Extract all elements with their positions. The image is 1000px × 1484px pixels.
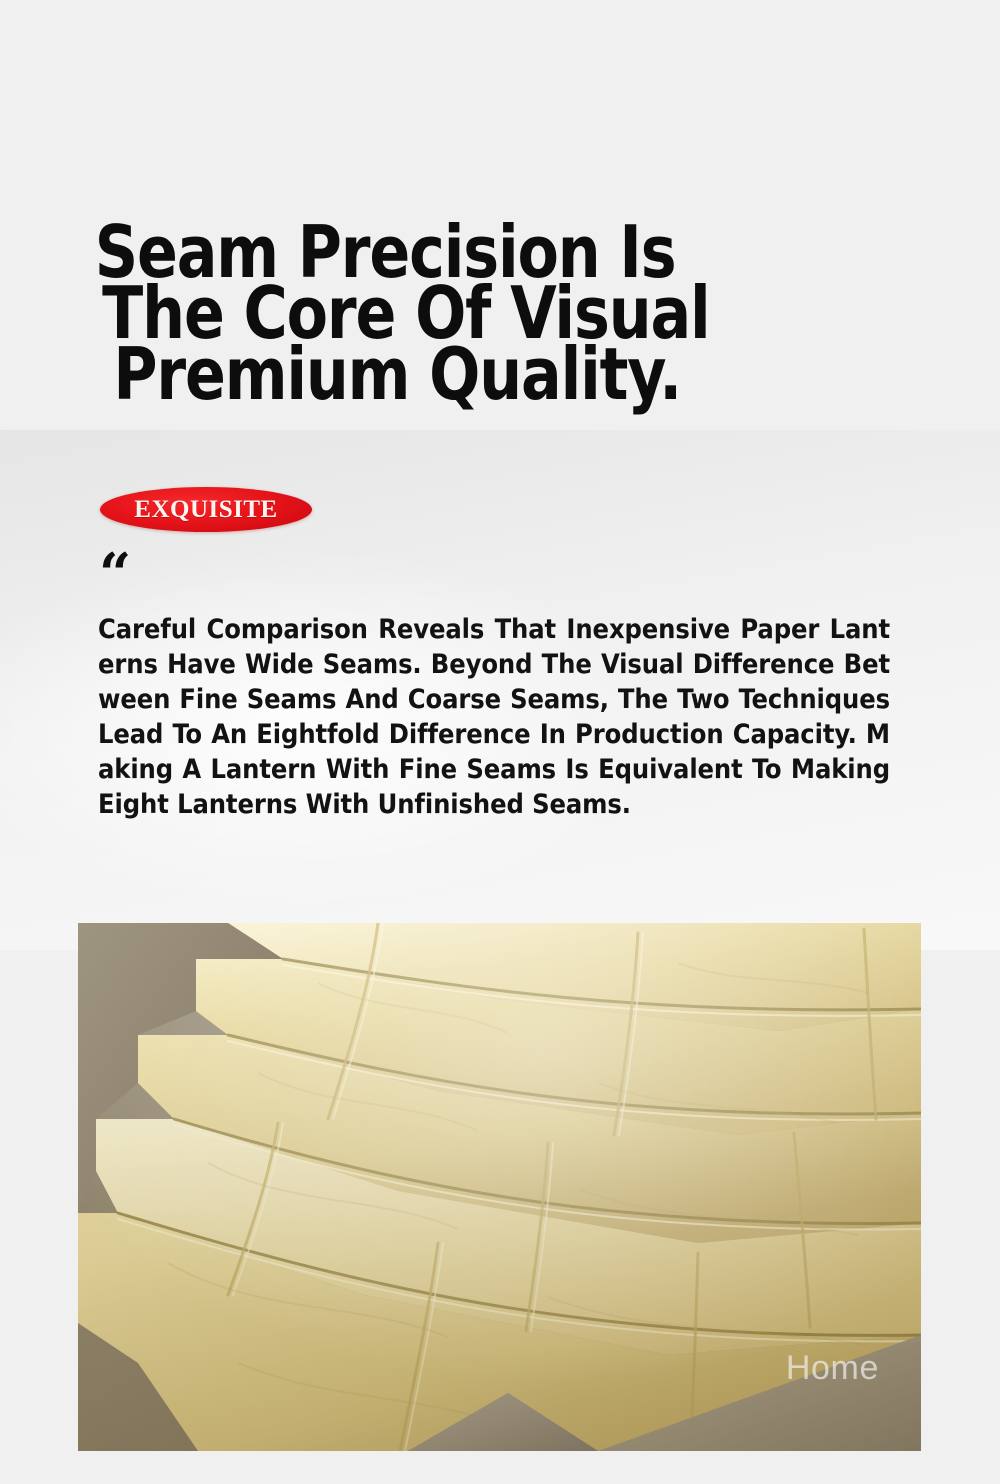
lantern-photo-illustration	[78, 923, 921, 1451]
brand-logo-label: EXQUISITE	[134, 496, 277, 524]
quote-open-icon: “	[99, 546, 131, 602]
page-title-line-3: Premium Quality.	[78, 344, 710, 405]
lantern-photo-canvas	[78, 923, 921, 1451]
quote-body-text: Careful Comparison Reveals That Inexpens…	[98, 612, 890, 822]
lantern-photo: Home	[78, 923, 921, 1451]
brand-logo-badge: EXQUISITE	[100, 487, 312, 532]
page-title: Seam Precision Is The Core Of Visual Pre…	[78, 222, 758, 405]
page-root: Seam Precision Is The Core Of Visual Pre…	[0, 0, 1000, 1484]
